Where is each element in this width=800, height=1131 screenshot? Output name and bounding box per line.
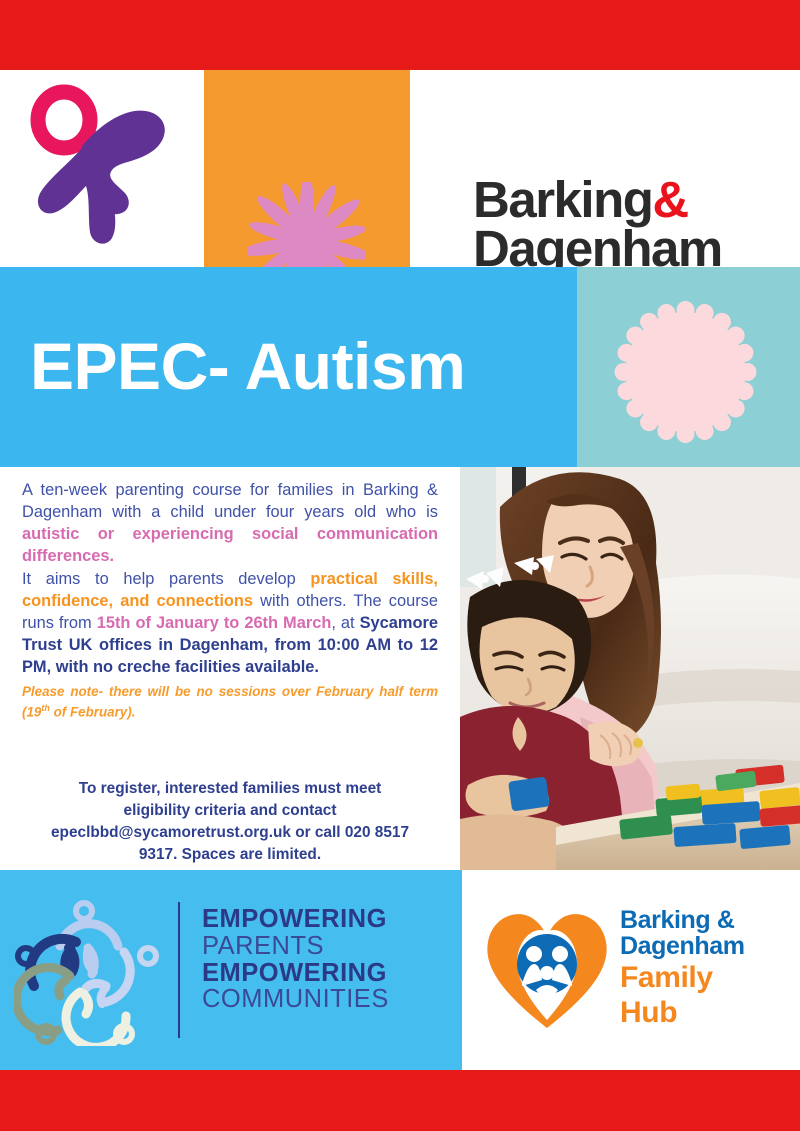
epec-divider [178,902,180,1038]
family-hub-logo-strip: Barking & Dagenham Family Hub [462,870,800,1070]
epec-wordmark: EMPOWERING PARENTS EMPOWERING COMMUNITIE… [202,906,389,1013]
heart-family-icon [482,902,612,1032]
registration-line-4: 9317. Spaces are limited. [14,844,446,866]
bottom-red-band [0,1070,800,1131]
intro-part1: A ten-week parenting course for families… [22,481,438,521]
registration-contact-email-phone[interactable]: epeclbbd@sycamoretrust.org.uk or call 02… [14,822,446,844]
top-red-band [0,0,800,70]
details-part3: , at [331,614,359,632]
council-wordmark-line1: Barking& [473,176,773,225]
intro-highlight-pink: autistic or experiencing social communic… [22,525,438,565]
epec-logo-strip: EMPOWERING PARENTS EMPOWERING COMMUNITIE… [0,870,462,1070]
paragraph-details: It aims to help parents develop practica… [22,569,438,679]
council-wordmark: Barking& Dagenham [473,176,773,274]
body-copy: A ten-week parenting course for families… [22,480,438,735]
council-figure-icon [20,84,190,254]
registration-block: To register, interested families must me… [14,778,446,866]
registration-line-1: To register, interested families must me… [14,778,446,800]
hub-line-dagenham: Dagenham [620,934,745,960]
hub-line-hub: Hub [620,998,745,1029]
cog-circle-icon [607,296,764,448]
epec-line-communities: COMMUNITIES [202,986,389,1013]
paragraph-intro: A ten-week parenting course for families… [22,480,438,568]
details-part1: It aims to help parents develop [22,570,310,588]
note-superscript: th [41,703,50,713]
header-logo-row: Barking& Dagenham [0,70,800,267]
epec-line-empowering-2: EMPOWERING [202,960,389,987]
registration-line-2: eligibility criteria and contact [14,800,446,822]
family-hub-wordmark: Barking & Dagenham Family Hub [620,908,745,1028]
page-title: EPEC- Autism [30,328,465,404]
hub-line-barking: Barking & [620,908,745,934]
details-highlight-dates: 15th of January to 26th March [97,614,332,632]
hub-line-family: Family [620,963,745,994]
intro-part2: . [109,547,114,565]
epec-line-parents: PARENTS [202,933,389,960]
family-photo [460,467,800,870]
half-term-note: Please note- there will be no sessions o… [22,683,438,722]
epec-line-empowering-1: EMPOWERING [202,906,389,933]
poster-root: Barking& Dagenham EPEC- Autism [0,0,800,1131]
epec-circles-icon [14,894,166,1046]
note-after: of February). [50,704,136,719]
